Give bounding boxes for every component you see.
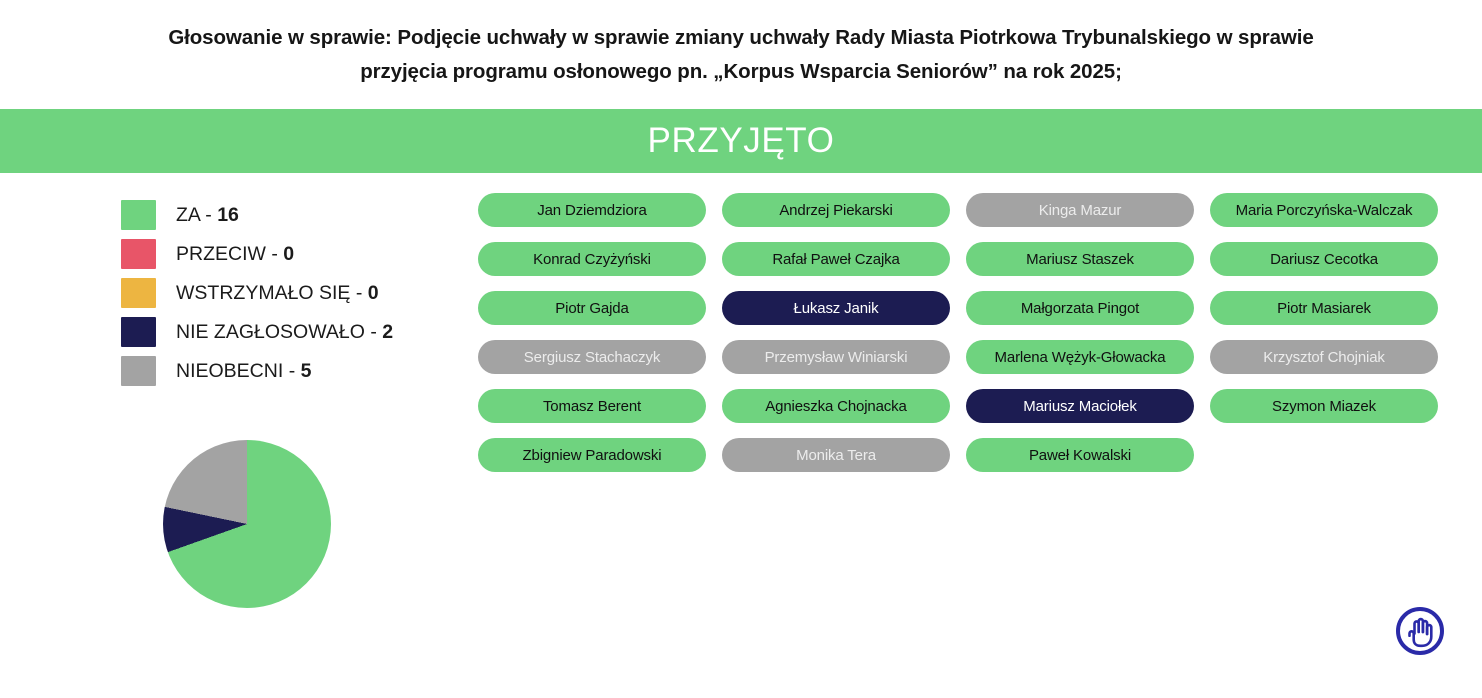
voter-grid: Jan DziemdzioraKonrad CzyżyńskiPiotr Gaj…: [478, 193, 1454, 472]
legend-label: NIEOBECNI - 5: [176, 360, 311, 383]
legend-color-swatch: [121, 278, 156, 308]
legend-label-text: PRZECIW: [176, 243, 266, 265]
voter-pill[interactable]: Piotr Masiarek: [1210, 291, 1438, 325]
legend-separator: -: [266, 243, 283, 265]
voter-pill[interactable]: Sergiusz Stachaczyk: [478, 340, 706, 374]
legend-label: ZA - 16: [176, 204, 239, 227]
legend-color-swatch: [121, 317, 156, 347]
legend-row: NIEOBECNI - 5: [121, 352, 481, 390]
legend-color-swatch: [121, 356, 156, 386]
legend-count: 16: [217, 204, 239, 226]
legend-count: 5: [301, 360, 312, 382]
voter-pill[interactable]: Szymon Miazek: [1210, 389, 1438, 423]
legend-row: PRZECIW - 0: [121, 235, 481, 273]
voter-pill[interactable]: Marlena Wężyk-Głowacka: [966, 340, 1194, 374]
voter-pill[interactable]: Jan Dziemdziora: [478, 193, 706, 227]
voter-pill[interactable]: Monika Tera: [722, 438, 950, 472]
page-title: Głosowanie w sprawie: Podjęcie uchwały w…: [0, 0, 1482, 109]
legend-count: 0: [283, 243, 294, 265]
legend-label: PRZECIW - 0: [176, 243, 294, 266]
legend-separator: -: [283, 360, 300, 382]
result-banner: PRZYJĘTO: [0, 109, 1482, 173]
voter-pill[interactable]: Łukasz Janik: [722, 291, 950, 325]
legend-label-text: NIE ZAGŁOSOWAŁO: [176, 321, 365, 343]
voter-pill[interactable]: Konrad Czyżyński: [478, 242, 706, 276]
page-title-line-2: przyjęcia programu osłonowego pn. „Korpu…: [360, 60, 1122, 84]
legend-row: ZA - 16: [121, 196, 481, 234]
vote-pie-chart: [163, 440, 331, 608]
voter-pill[interactable]: Tomasz Berent: [478, 389, 706, 423]
voter-pill[interactable]: Maria Porczyńska-Walczak: [1210, 193, 1438, 227]
voter-pill[interactable]: Przemysław Winiarski: [722, 340, 950, 374]
legend-color-swatch: [121, 239, 156, 269]
voter-pill[interactable]: Krzysztof Chojniak: [1210, 340, 1438, 374]
voter-pill[interactable]: Andrzej Piekarski: [722, 193, 950, 227]
page-title-line-1: Głosowanie w sprawie: Podjęcie uchwały w…: [168, 26, 1313, 50]
result-banner-label: PRZYJĘTO: [648, 121, 835, 161]
legend-separator: -: [365, 321, 382, 343]
voter-pill[interactable]: Piotr Gajda: [478, 291, 706, 325]
vote-legend: ZA - 16PRZECIW - 0WSTRZYMAŁO SIĘ - 0NIE …: [121, 196, 481, 391]
legend-label-text: NIEOBECNI: [176, 360, 283, 382]
voter-pill[interactable]: Rafał Paweł Czajka: [722, 242, 950, 276]
voter-pill[interactable]: Kinga Mazur: [966, 193, 1194, 227]
legend-color-swatch: [121, 200, 156, 230]
legend-separator: -: [350, 282, 367, 304]
legend-label: WSTRZYMAŁO SIĘ - 0: [176, 282, 379, 305]
voter-pill[interactable]: Paweł Kowalski: [966, 438, 1194, 472]
voter-pill[interactable]: Agnieszka Chojnacka: [722, 389, 950, 423]
legend-label-text: WSTRZYMAŁO SIĘ: [176, 282, 350, 304]
legend-separator: -: [200, 204, 217, 226]
voter-pill-placeholder: [1210, 438, 1438, 472]
legend-count: 2: [382, 321, 393, 343]
voter-pill[interactable]: Mariusz Staszek: [966, 242, 1194, 276]
legend-count: 0: [368, 282, 379, 304]
raised-hand-in-circle-icon: [1392, 603, 1448, 659]
voter-pill[interactable]: Dariusz Cecotka: [1210, 242, 1438, 276]
voter-pill[interactable]: Zbigniew Paradowski: [478, 438, 706, 472]
legend-label-text: ZA: [176, 204, 200, 226]
legend-row: NIE ZAGŁOSOWAŁO - 2: [121, 313, 481, 351]
legend-row: WSTRZYMAŁO SIĘ - 0: [121, 274, 481, 312]
voter-pill[interactable]: Mariusz Maciołek: [966, 389, 1194, 423]
voter-pill[interactable]: Małgorzata Pingot: [966, 291, 1194, 325]
legend-label: NIE ZAGŁOSOWAŁO - 2: [176, 321, 393, 344]
